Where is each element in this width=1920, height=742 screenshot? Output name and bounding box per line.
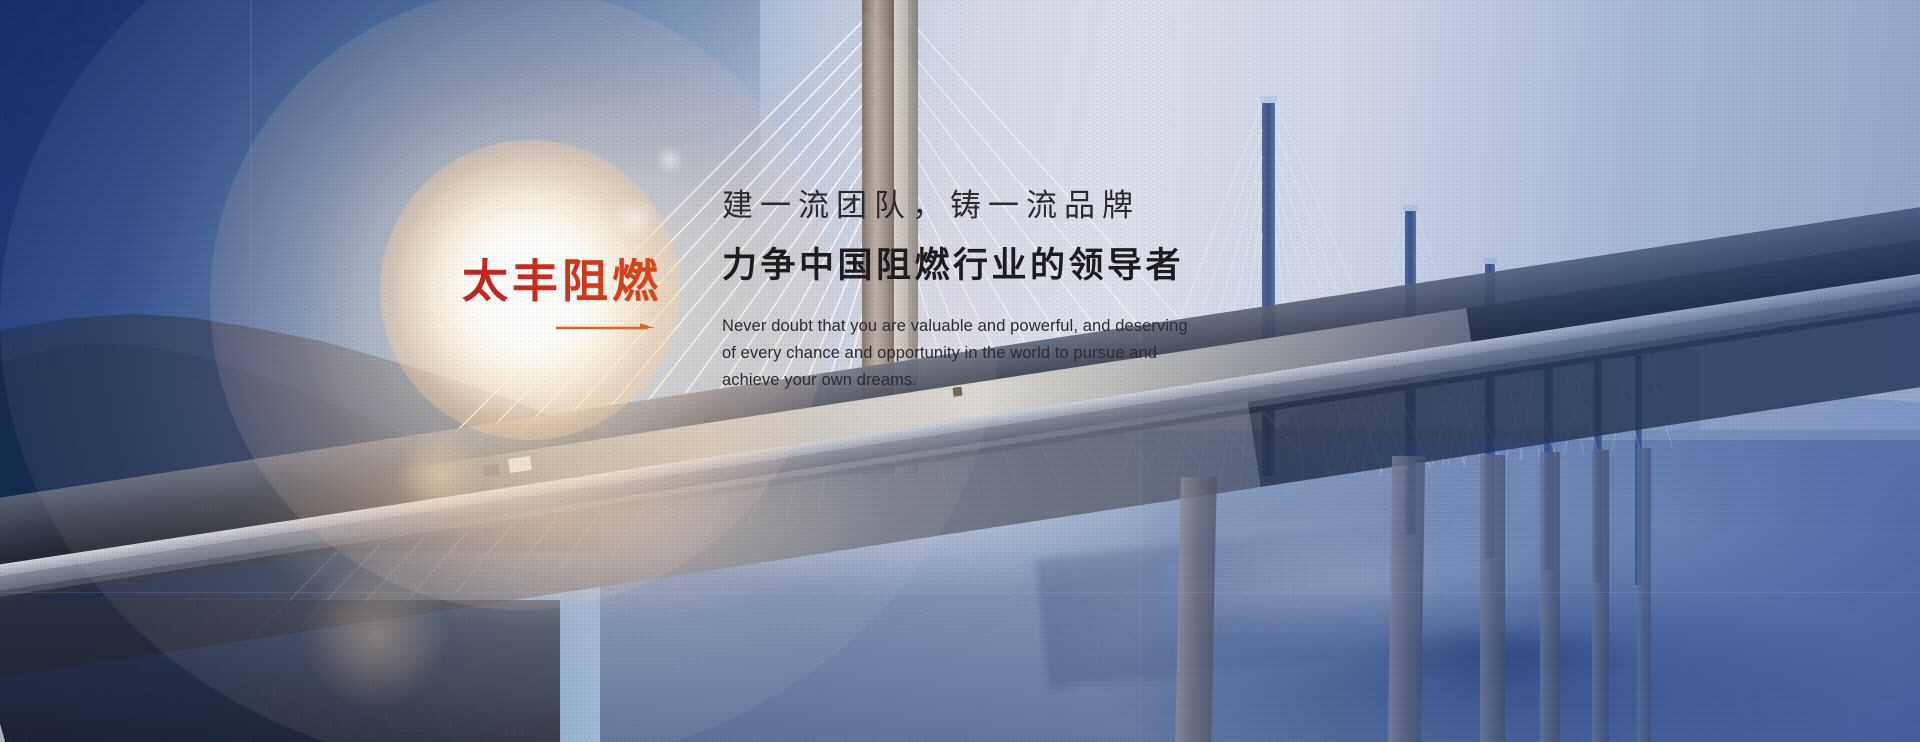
brand-logo-text: 太丰阻燃 [462,258,682,304]
subtext-line-3: achieve your own dreams. [722,367,1282,394]
headline-primary: 建一流团队，铸一流品牌 [722,188,1322,225]
right-arrow-icon [556,322,656,334]
banner-text-block: 建一流团队，铸一流品牌 力争中国阻燃行业的领导者 Never doubt tha… [722,188,1322,393]
banner-content: 太丰阻燃 建一流团队，铸一流品牌 力争中国阻燃行业的领导者 Never doub… [0,0,1920,742]
hero-banner: 太丰阻燃 建一流团队，铸一流品牌 力争中国阻燃行业的领导者 Never doub… [0,0,1920,742]
subtext-line-2: of every chance and opportunity in the w… [722,340,1282,367]
headline-secondary: 力争中国阻燃行业的领导者 [722,245,1322,287]
brand-logo[interactable]: 太丰阻燃 [462,258,682,334]
banner-subtext: Never doubt that you are valuable and po… [722,313,1282,393]
subtext-line-1: Never doubt that you are valuable and po… [722,313,1282,340]
